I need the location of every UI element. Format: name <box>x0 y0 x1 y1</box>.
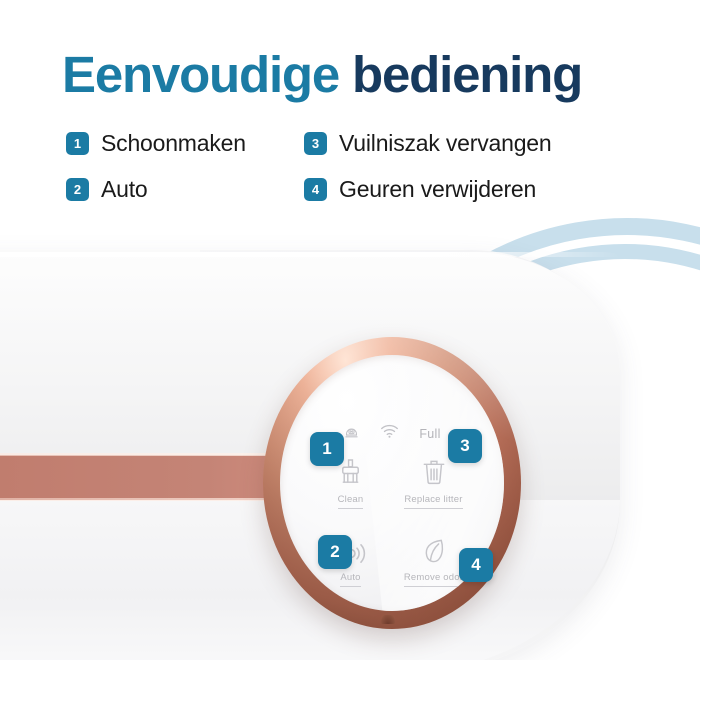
function-replace-litter[interactable]: Replace litter <box>395 455 472 509</box>
status-full-label: Full <box>419 427 440 441</box>
legend-badge: 1 <box>66 132 89 155</box>
legend-badge: 2 <box>66 178 89 201</box>
trash-icon <box>421 455 447 489</box>
header-block: Eenvoudige bediening 1 Schoonmaken 2 Aut… <box>0 0 713 218</box>
legend-badge: 4 <box>304 178 327 201</box>
legend-label: Geuren verwijderen <box>339 176 536 203</box>
legend-label: Schoonmaken <box>101 130 246 157</box>
function-caption: Auto <box>340 572 360 587</box>
wifi-icon <box>380 424 399 444</box>
function-caption: Clean <box>338 494 364 509</box>
function-caption: Replace litter <box>404 494 462 509</box>
right-margin <box>700 0 713 713</box>
device-top-edge <box>0 252 620 257</box>
control-dial[interactable]: Full Clean <box>263 337 521 629</box>
leaf-icon <box>420 533 448 567</box>
bottom-margin <box>0 660 713 713</box>
callout-badge-3[interactable]: 3 <box>448 429 482 463</box>
page-title: Eenvoudige bediening <box>62 49 582 100</box>
legend-item-3: 3 Vuilniszak vervangen <box>304 130 552 157</box>
title-word-1: Eenvoudige <box>62 46 339 103</box>
callout-badge-4[interactable]: 4 <box>459 548 493 582</box>
promo-graphic: Full Clean <box>0 0 713 713</box>
title-word-2: bediening <box>352 46 582 103</box>
legend-item-4: 4 Geuren verwijderen <box>304 176 536 203</box>
legend-item-2: 2 Auto <box>66 176 148 203</box>
callout-badge-1[interactable]: 1 <box>310 432 344 466</box>
legend-label: Vuilniszak vervangen <box>339 130 552 157</box>
legend-item-1: 1 Schoonmaken <box>66 130 246 157</box>
callout-badge-2[interactable]: 2 <box>318 535 352 569</box>
legend-label: Auto <box>101 176 148 203</box>
device-alert-icon <box>343 423 360 445</box>
dial-notch <box>381 615 395 624</box>
function-caption: Remove odor <box>404 572 463 587</box>
legend-badge: 3 <box>304 132 327 155</box>
